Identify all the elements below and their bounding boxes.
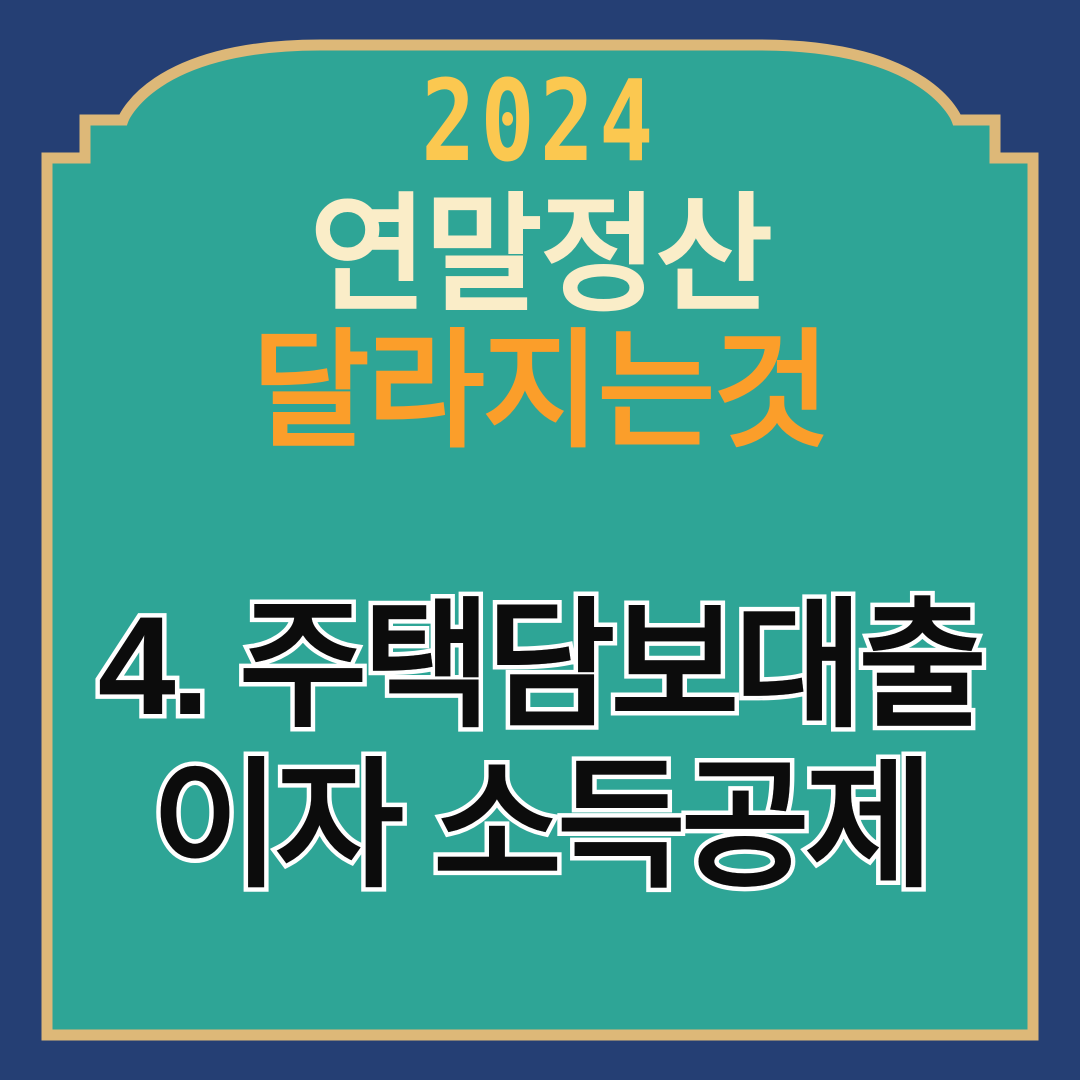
- poster-content: 2024 연말정산 달라지는것 4. 주택담보대출 이자 소득공제 4. 주택담…: [0, 0, 1080, 1080]
- headline-primary: 연말정산: [0, 192, 1080, 320]
- year-label: 2024: [108, 66, 972, 178]
- poster-canvas: 2024 연말정산 달라지는것 4. 주택담보대출 이자 소득공제 4. 주택담…: [0, 0, 1080, 1080]
- topic-line-1-fill: 4. 주택담보대출: [0, 596, 1080, 736]
- topic-line-2-fill: 이자 소득공제: [0, 756, 1080, 896]
- headline-secondary: 달라지는것: [0, 328, 1080, 456]
